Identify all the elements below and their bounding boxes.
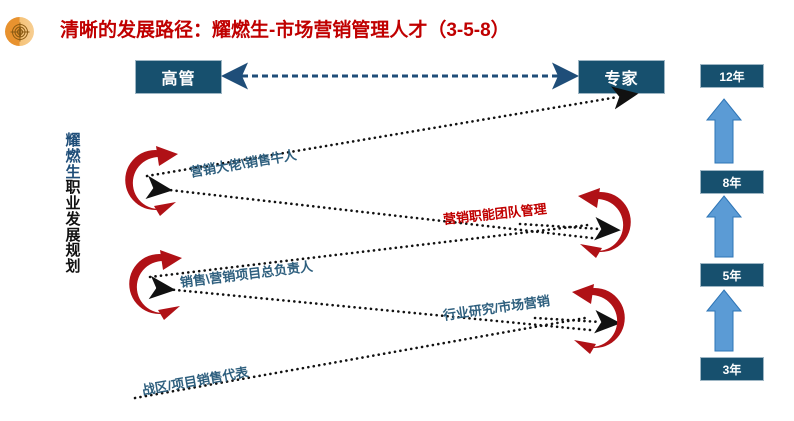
timeline-arrow-3 [707, 290, 741, 351]
timeline-year-3: 3年 [700, 357, 764, 381]
career-path-route [135, 97, 618, 398]
side-char-7: 规 [60, 243, 86, 259]
timeline-arrow-1 [707, 99, 741, 163]
timeline-arrow-2 [707, 196, 741, 257]
slide-canvas: 清晰的发展路径：耀燃生-市场营销管理人才（3-5-8） 高管 专家 [0, 0, 794, 421]
side-char-1: 燃 [60, 149, 86, 165]
timeline-arrows [707, 99, 741, 351]
side-vertical-label: 耀 燃 生 职 业 发 展 规 划 [60, 133, 86, 275]
side-char-3: 职 [60, 180, 86, 196]
timeline-year-12: 12年 [700, 64, 764, 88]
timeline-year-5: 5年 [700, 263, 764, 287]
diagram-vector-layer [0, 0, 794, 421]
side-char-2: 生 [60, 165, 86, 181]
timeline-year-8: 8年 [700, 170, 764, 194]
side-char-0: 耀 [60, 133, 86, 149]
side-char-8: 划 [60, 259, 86, 275]
side-char-6: 展 [60, 228, 86, 244]
side-char-4: 业 [60, 196, 86, 212]
side-char-5: 发 [60, 212, 86, 228]
